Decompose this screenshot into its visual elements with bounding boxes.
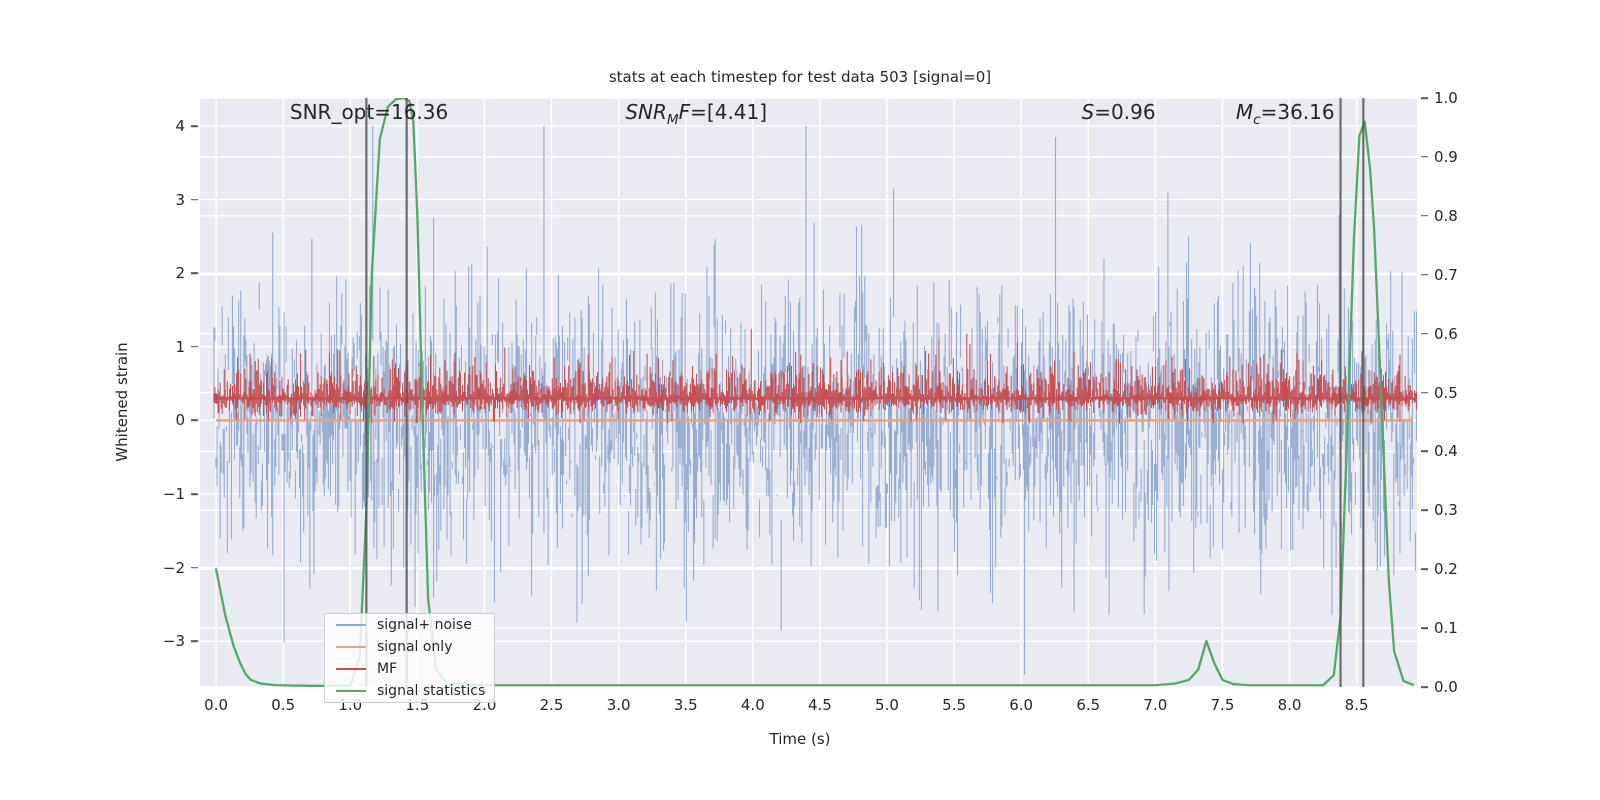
annotation-snr-opt: SNR_opt=16.36 xyxy=(290,100,448,124)
y-tick-right-4: 0.4 xyxy=(1434,442,1504,460)
y-axis-left-label: Whitened strain xyxy=(113,272,131,532)
y-tick-right-10: 1.0 xyxy=(1434,89,1504,107)
y-tick-right-9: 0.9 xyxy=(1434,148,1504,166)
legend-label: signal statistics xyxy=(377,683,485,699)
x-tick-13: 6.5 xyxy=(1076,696,1100,714)
x-axis-label: Time (s) xyxy=(0,730,1600,748)
tick-mark xyxy=(1421,451,1428,453)
x-tick-12: 6.0 xyxy=(1009,696,1033,714)
legend-item-3[interactable]: signal statistics xyxy=(325,680,494,702)
tick-mark xyxy=(1421,333,1428,335)
tick-mark xyxy=(191,567,198,569)
tick-mark xyxy=(1421,215,1428,217)
tick-mark xyxy=(1421,156,1428,158)
x-tick-5: 2.5 xyxy=(540,696,564,714)
y-tick-right-0: 0.0 xyxy=(1434,678,1504,696)
chart-title: stats at each timestep for test data 503… xyxy=(0,68,1600,86)
x-tick-17: 8.5 xyxy=(1345,696,1369,714)
y-tick-right-3: 0.3 xyxy=(1434,501,1504,519)
y-tick-left-6: 3 xyxy=(125,191,185,209)
tick-mark xyxy=(1421,568,1428,570)
y-tick-right-5: 0.5 xyxy=(1434,384,1504,402)
tick-mark xyxy=(1421,392,1428,394)
y-tick-left-5: 2 xyxy=(125,264,185,282)
x-tick-15: 7.5 xyxy=(1211,696,1235,714)
tick-mark xyxy=(191,420,198,422)
y-tick-right-1: 0.1 xyxy=(1434,619,1504,637)
y-tick-left-3: 0 xyxy=(125,411,185,429)
tick-mark xyxy=(191,272,198,274)
legend-item-0[interactable]: signal+ noise xyxy=(325,614,494,636)
legend-label: signal+ noise xyxy=(377,617,472,633)
x-tick-16: 8.0 xyxy=(1278,696,1302,714)
x-tick-1: 0.5 xyxy=(271,696,295,714)
tick-mark xyxy=(191,641,198,643)
figure-canvas: stats at each timestep for test data 503… xyxy=(0,0,1600,800)
tick-mark xyxy=(1421,686,1428,688)
annotation-s-stat: S=0.96 xyxy=(1082,100,1156,124)
x-tick-0: 0.0 xyxy=(204,696,228,714)
plot-svg xyxy=(200,98,1417,687)
tick-mark xyxy=(191,125,198,127)
tick-mark xyxy=(1421,510,1428,512)
tick-mark xyxy=(1421,627,1428,629)
tick-mark xyxy=(1421,97,1428,99)
legend-swatch-line xyxy=(336,624,366,626)
x-tick-14: 7.0 xyxy=(1143,696,1167,714)
legend-item-2[interactable]: MF xyxy=(325,658,494,680)
tick-mark xyxy=(191,493,198,495)
plot-area xyxy=(200,98,1417,687)
legend-swatch-line xyxy=(336,646,366,648)
x-tick-9: 4.5 xyxy=(808,696,832,714)
y-tick-left-2: −1 xyxy=(125,485,185,503)
tick-mark xyxy=(1421,274,1428,276)
chart-legend[interactable]: signal+ noisesignal onlyMFsignal statist… xyxy=(324,613,495,703)
y-tick-left-7: 4 xyxy=(125,117,185,135)
tick-mark xyxy=(191,346,198,348)
x-tick-10: 5.0 xyxy=(875,696,899,714)
y-tick-right-8: 0.8 xyxy=(1434,207,1504,225)
tick-mark xyxy=(191,199,198,201)
legend-label: signal only xyxy=(377,639,452,655)
legend-swatch-line xyxy=(336,690,366,692)
y-tick-right-2: 0.2 xyxy=(1434,560,1504,578)
y-tick-right-7: 0.7 xyxy=(1434,266,1504,284)
x-tick-7: 3.5 xyxy=(674,696,698,714)
legend-label: MF xyxy=(377,661,397,677)
x-tick-11: 5.5 xyxy=(942,696,966,714)
x-tick-8: 4.0 xyxy=(741,696,765,714)
y-tick-right-6: 0.6 xyxy=(1434,325,1504,343)
x-tick-6: 3.0 xyxy=(607,696,631,714)
y-tick-left-4: 1 xyxy=(125,338,185,356)
legend-swatch-line xyxy=(336,668,366,670)
legend-item-1[interactable]: signal only xyxy=(325,636,494,658)
annotation-mchirp: Mc=36.16 xyxy=(1236,100,1335,128)
y-tick-left-0: −3 xyxy=(125,632,185,650)
annotation-snr-mf: SNRMF=[4.41] xyxy=(625,100,767,128)
y-tick-left-1: −2 xyxy=(125,559,185,577)
